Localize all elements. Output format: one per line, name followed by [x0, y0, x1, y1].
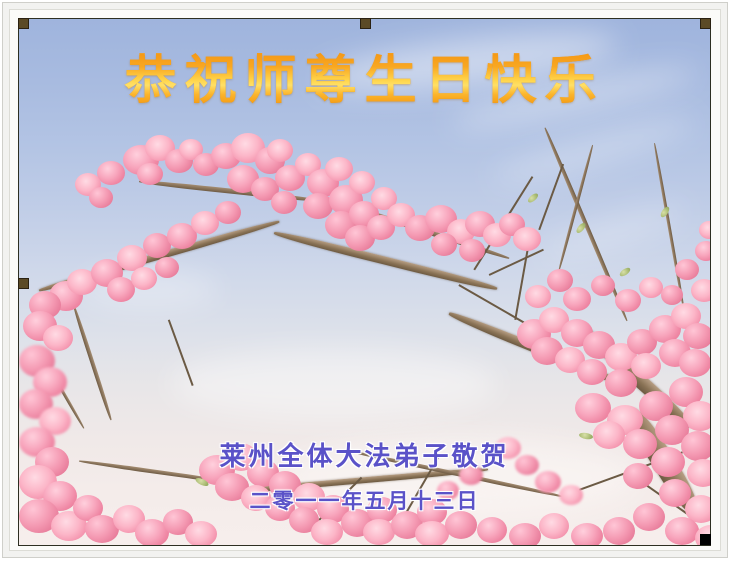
bare-twig	[514, 231, 531, 320]
blossom-cluster	[477, 517, 507, 543]
blossom-cluster	[345, 225, 375, 251]
handle-bottom-right[interactable]	[700, 534, 711, 545]
blossom-cluster	[555, 347, 585, 373]
handle-middle-left[interactable]	[18, 278, 29, 289]
blossom-cluster	[23, 311, 57, 341]
blossom-cluster	[19, 345, 55, 377]
blossom-cluster	[415, 521, 449, 545]
cloud-wisp	[79, 269, 219, 309]
blossom-cluster	[131, 267, 157, 290]
blossom-cluster	[51, 511, 87, 541]
blossom-cluster	[97, 161, 125, 185]
blossom-cluster	[603, 517, 635, 545]
blossom-cluster	[547, 269, 573, 292]
photo-frame[interactable]: 恭祝师尊生日快乐 恭祝师尊生日快乐 莱州全体大法弟子敬贺 二零一一年五月十三日	[18, 18, 711, 546]
blossom-cluster	[137, 163, 163, 185]
blossom-cluster	[179, 139, 203, 160]
blossom-cluster	[167, 223, 197, 249]
tree-branch	[38, 350, 86, 429]
blossom-cluster	[631, 353, 661, 379]
blossom-cluster	[123, 145, 159, 175]
blossom-cluster	[627, 329, 657, 355]
tree-trunk	[574, 321, 695, 432]
blossom-cluster	[679, 349, 710, 377]
blossom-cluster	[525, 285, 551, 308]
cloud-wisp	[539, 196, 690, 267]
blossom-cluster	[615, 289, 641, 312]
blossom-cluster	[517, 319, 551, 349]
blossom-cluster	[215, 201, 241, 224]
handle-top-center[interactable]	[360, 18, 371, 29]
blossom-cluster	[89, 187, 113, 208]
blossom-cluster	[391, 511, 423, 539]
blossom-cluster	[509, 523, 541, 545]
tree-branch	[447, 309, 627, 389]
blossom-cluster	[591, 275, 615, 296]
tree-branch	[72, 305, 113, 420]
blossom-cluster	[445, 511, 477, 539]
cloud-wisp	[169, 349, 499, 419]
blossom-cluster	[349, 171, 375, 194]
blossom-cluster	[185, 521, 217, 545]
greeting-title: 恭祝师尊生日快乐	[19, 55, 710, 107]
bare-twig	[168, 319, 193, 385]
tree-branch	[543, 127, 629, 322]
blossom-cluster	[155, 257, 179, 278]
bare-twig	[538, 164, 563, 230]
leaf	[575, 221, 587, 234]
blossom-cluster	[683, 401, 710, 431]
blossom-cluster	[75, 173, 101, 196]
blossom-cluster	[447, 219, 475, 244]
blossom-cluster	[661, 285, 683, 305]
blossom-cluster	[659, 339, 691, 367]
blossom-cluster	[431, 233, 457, 256]
blossom-cluster	[39, 407, 71, 435]
blossom-cluster	[145, 135, 175, 161]
blossom-cluster	[143, 233, 171, 258]
leaf	[618, 266, 631, 278]
tree-branch	[318, 194, 510, 261]
blossom-cluster	[227, 165, 259, 193]
blossom-cluster	[639, 277, 663, 298]
tree-branch	[139, 179, 319, 203]
blossom-cluster	[307, 169, 339, 197]
handle-top-left[interactable]	[18, 18, 29, 29]
tree-branch	[653, 143, 685, 311]
leaf	[526, 192, 539, 204]
blossom-cluster	[29, 291, 61, 319]
handle-top-right[interactable]	[700, 18, 711, 29]
blossom-cluster	[691, 279, 710, 302]
leaf	[659, 205, 671, 218]
blossom-cluster	[49, 281, 83, 311]
tree-branch-arch	[38, 218, 280, 294]
blossom-cluster	[275, 165, 305, 191]
blossom-cluster	[325, 211, 357, 239]
blossom-cluster	[425, 205, 457, 233]
blossom-cluster	[649, 315, 681, 343]
blossom-cluster	[19, 389, 53, 419]
blossom-cluster	[193, 153, 219, 176]
blossom-cluster	[135, 519, 169, 545]
signature-line-2: 二零一一年五月十三日	[19, 485, 710, 515]
blossom-cluster	[387, 203, 415, 227]
blossom-cluster	[43, 325, 73, 351]
blossom-cluster	[499, 213, 525, 236]
blossom-cluster	[325, 157, 353, 181]
blossom-cluster	[539, 513, 569, 539]
blossom-cluster	[311, 519, 343, 545]
blossom-photograph: 恭祝师尊生日快乐 恭祝师尊生日快乐 莱州全体大法弟子敬贺 二零一一年五月十三日	[19, 19, 710, 545]
blossom-cluster	[367, 215, 395, 240]
blossom-cluster	[303, 193, 333, 219]
blossom-cluster	[251, 177, 279, 201]
blossom-cluster	[607, 405, 643, 435]
blossom-cluster	[539, 307, 569, 333]
blossom-cluster	[699, 221, 710, 239]
blossom-cluster	[563, 287, 591, 311]
blossom-cluster	[363, 519, 395, 545]
blossom-cluster	[605, 343, 637, 371]
blossom-cluster	[561, 319, 593, 347]
blossom-cluster	[683, 323, 710, 349]
blossom-cluster	[191, 211, 219, 235]
blossom-cluster	[107, 277, 135, 302]
image-viewer-canvas: 恭祝师尊生日快乐 恭祝师尊生日快乐 莱州全体大法弟子敬贺 二零一一年五月十三日	[0, 0, 734, 565]
blossom-cluster	[675, 259, 699, 280]
blossom-cluster	[605, 369, 637, 397]
blossom-cluster	[575, 393, 611, 423]
blossom-cluster	[531, 337, 563, 365]
blossom-cluster	[91, 259, 123, 287]
blossom-cluster	[405, 215, 435, 241]
bare-twig	[459, 284, 529, 325]
blossom-cluster	[583, 331, 615, 359]
tree-branch-arch	[273, 229, 498, 292]
blossom-cluster	[267, 139, 293, 162]
blossom-cluster	[577, 359, 607, 385]
blossom-cluster	[695, 241, 710, 261]
blossom-cluster	[117, 245, 147, 271]
blossom-cluster	[665, 517, 699, 545]
blossom-cluster	[85, 515, 119, 543]
blossom-cluster	[165, 149, 193, 173]
bare-twig	[489, 249, 544, 276]
signature-line-1: 莱州全体大法弟子敬贺	[19, 436, 710, 473]
cloud-wisp	[489, 109, 698, 192]
blossom-cluster	[465, 211, 495, 237]
blossom-cluster	[671, 303, 701, 329]
tree-branch	[558, 145, 595, 271]
blossom-cluster	[571, 523, 603, 545]
blossom-cluster	[329, 185, 363, 215]
blossom-cluster	[669, 377, 703, 407]
blossom-cluster	[513, 227, 541, 251]
blossom-cluster	[67, 269, 97, 295]
blossom-cluster	[295, 153, 321, 176]
blossom-cluster	[371, 187, 397, 210]
signature-block: 莱州全体大法弟子敬贺 二零一一年五月十三日	[19, 436, 710, 515]
blossom-cluster	[483, 223, 511, 247]
blossom-cluster	[211, 143, 241, 169]
blossom-cluster	[639, 391, 673, 421]
blossom-cluster	[459, 239, 485, 262]
blossom-cluster	[349, 201, 379, 227]
blossom-cluster	[231, 133, 265, 163]
blossom-cluster	[33, 367, 67, 397]
blossom-cluster	[255, 147, 285, 174]
blossom-cluster	[271, 191, 297, 214]
bare-twig	[473, 176, 533, 270]
